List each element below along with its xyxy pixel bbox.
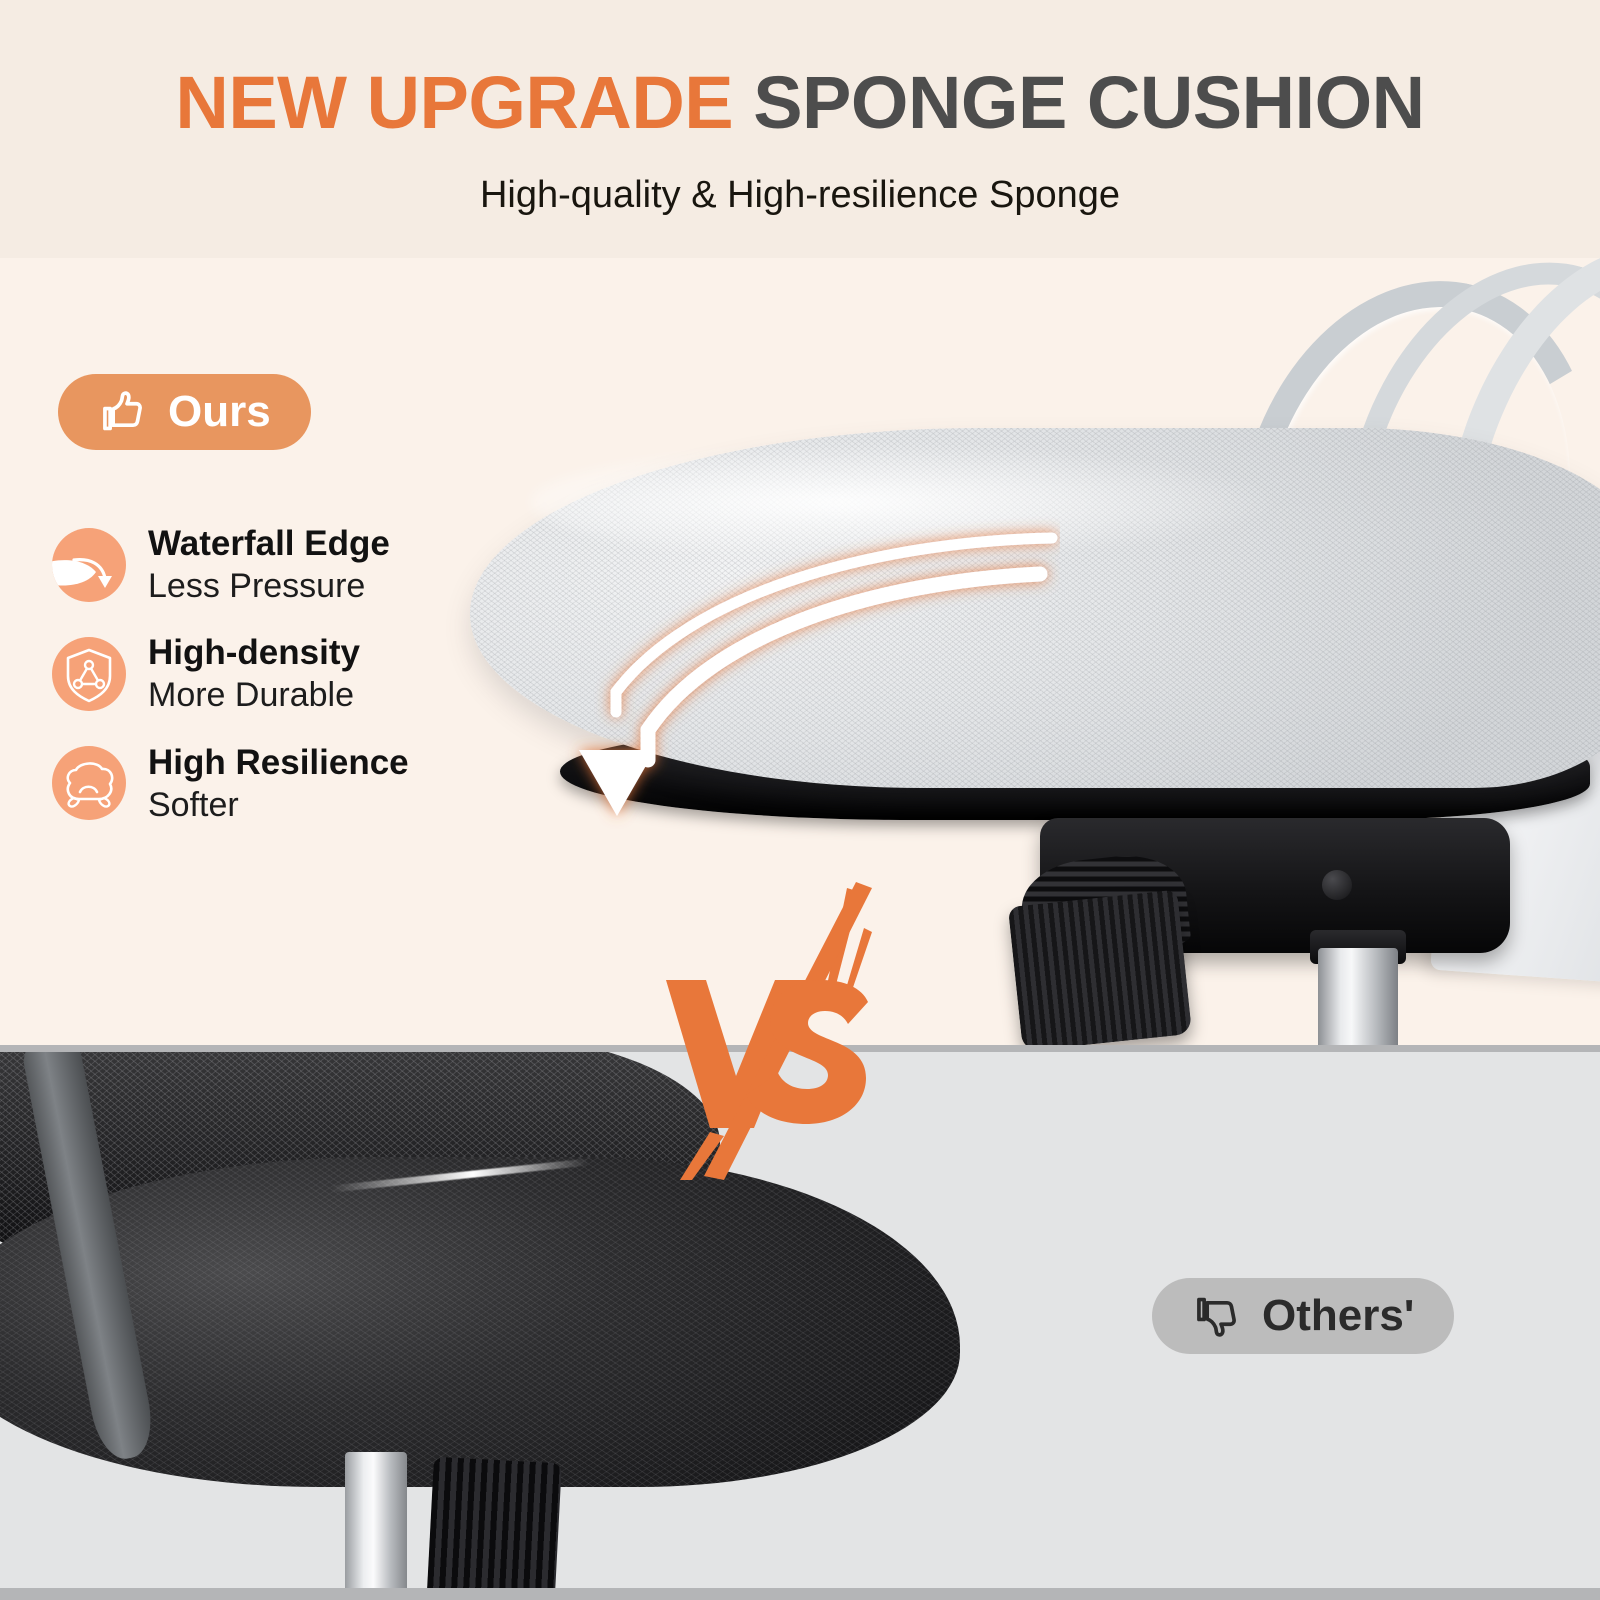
page-subtitle: High-quality & High-resilience Sponge: [0, 176, 1600, 214]
ours-badge-label: Ours: [168, 390, 271, 434]
thumbs-down-icon: [1192, 1290, 1244, 1342]
feature-item: High-density More Durable: [52, 633, 532, 714]
thumbs-up-icon: [98, 386, 150, 438]
shield-density-icon: [52, 637, 126, 711]
feature-subtitle: More Durable: [148, 676, 360, 714]
feature-item: Waterfall Edge Less Pressure: [52, 524, 532, 605]
title-highlight: NEW UPGRADE: [175, 61, 733, 144]
tension-adjust-knob: [1008, 890, 1192, 1045]
waterfall-edge-icon: [52, 528, 126, 602]
feature-list: Waterfall Edge Less Pressure High-densit…: [52, 524, 532, 852]
feature-title: High-density: [148, 633, 360, 672]
feature-subtitle: Softer: [148, 786, 409, 824]
gas-cylinder: [1318, 948, 1398, 1045]
feature-title: High Resilience: [148, 743, 409, 782]
black-gas-cylinder: [345, 1452, 407, 1600]
feature-text: High Resilience Softer: [148, 743, 409, 824]
others-badge-label: Others': [1262, 1294, 1414, 1338]
title-rest: SPONGE CUSHION: [753, 61, 1424, 144]
page-title: NEW UPGRADE SPONGE CUSHION: [0, 66, 1600, 140]
resilience-cushion-icon: [52, 746, 126, 820]
cushion-highlight: [530, 442, 1290, 562]
black-tension-knob: [426, 1457, 562, 1600]
feature-text: Waterfall Edge Less Pressure: [148, 524, 390, 605]
header-band: NEW UPGRADE SPONGE CUSHION High-quality …: [0, 0, 1600, 258]
mechanism-bolt: [1322, 870, 1352, 900]
grey-sponge-cushion: [470, 428, 1600, 788]
ours-badge[interactable]: Ours: [58, 374, 311, 450]
others-badge[interactable]: Others': [1152, 1278, 1454, 1354]
grey-seat-assembly: [470, 428, 1600, 848]
feature-text: High-density More Durable: [148, 633, 360, 714]
bottom-divider-rule: [0, 1588, 1600, 1600]
product-comparison-infographic: NEW UPGRADE SPONGE CUSHION High-quality …: [0, 0, 1600, 1600]
feature-subtitle: Less Pressure: [148, 567, 390, 605]
feature-item: High Resilience Softer: [52, 743, 532, 824]
feature-title: Waterfall Edge: [148, 524, 390, 563]
